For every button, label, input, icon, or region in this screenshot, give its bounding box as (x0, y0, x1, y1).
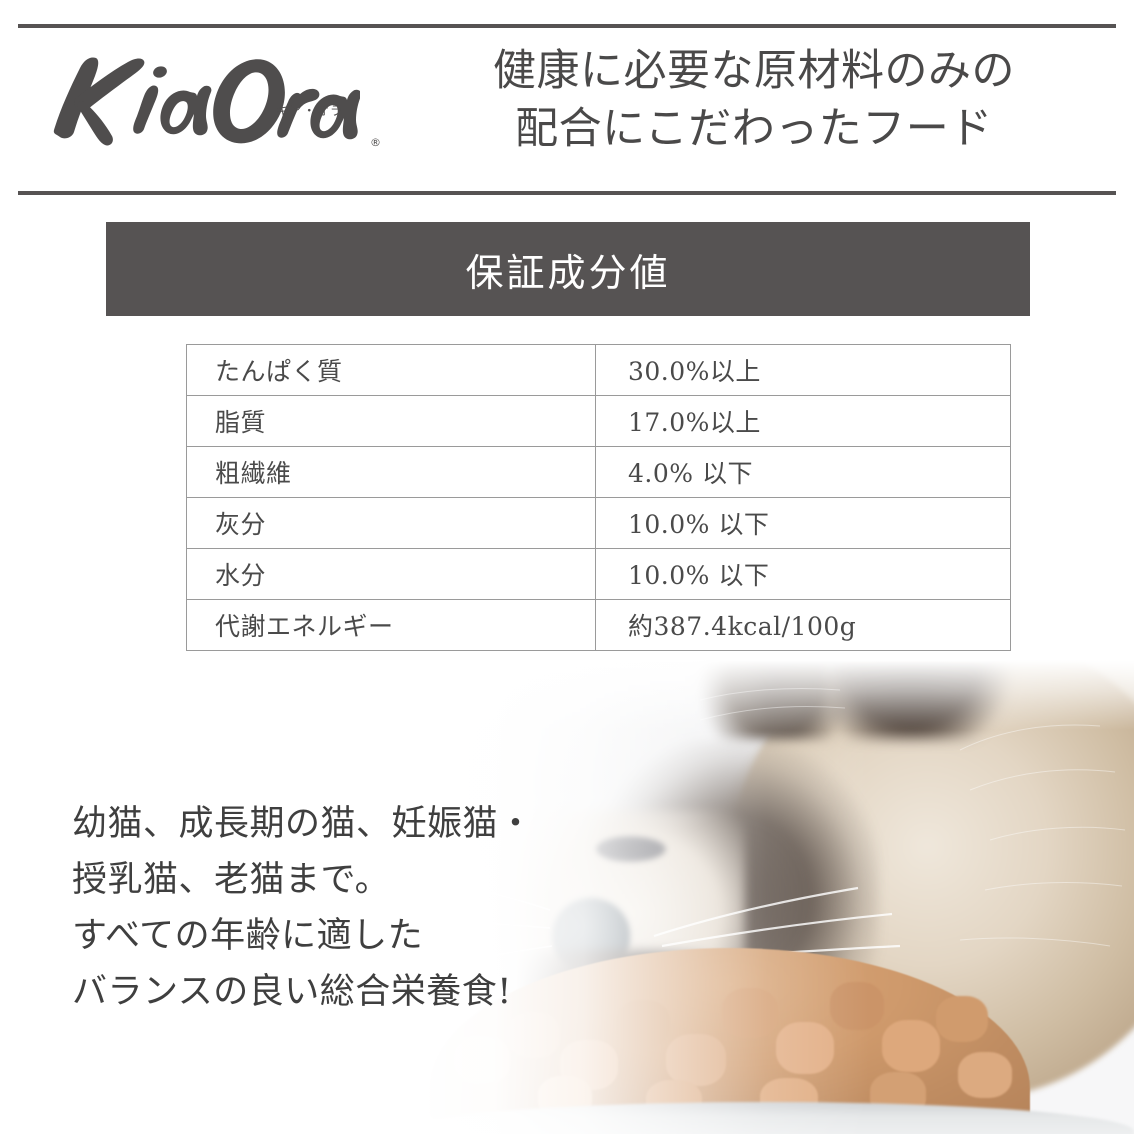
promo-page: キア・オラ ® 健康に必要な原材料のみの 配合にこだわったフード 保証成分値 た… (0, 0, 1134, 1134)
banner-title: 保証成分値 (465, 242, 670, 297)
nutrient-value: 17.0%以上 (596, 396, 1011, 447)
nutrient-label: 灰分 (187, 498, 596, 549)
table-row: 代謝エネルギー 約387.4kcal/100g (187, 600, 1011, 651)
table-row: 粗繊維 4.0% 以下 (187, 447, 1011, 498)
nutrient-label: 代謝エネルギー (187, 600, 596, 651)
headline-line-2: 配合にこだわったフード (404, 100, 1104, 158)
nutrient-value: 30.0%以上 (596, 345, 1011, 396)
nutrient-value: 10.0% 以下 (596, 549, 1011, 600)
nutrient-label: 粗繊維 (187, 447, 596, 498)
kibble-piece (616, 1000, 670, 1048)
kibble-piece (776, 1022, 834, 1074)
body-copy-line-4: バランスの良い総合栄養食! (72, 964, 534, 1020)
table-row: 水分 10.0% 以下 (187, 549, 1011, 600)
kibble-piece (454, 1036, 510, 1084)
body-copy-line-3: すべての年齢に適した (72, 908, 534, 964)
guaranteed-analysis-banner: 保証成分値 (106, 222, 1030, 316)
table-row: 脂質 17.0%以上 (187, 396, 1011, 447)
nutrient-value: 約387.4kcal/100g (596, 600, 1011, 651)
table-row: 灰分 10.0% 以下 (187, 498, 1011, 549)
body-copy: 幼猫、成長期の猫、妊娠猫・ 授乳猫、老猫まで。 すべての年齢に適した バランスの… (72, 796, 534, 1020)
body-copy-line-2: 授乳猫、老猫まで。 (72, 852, 534, 908)
kibble-piece (882, 1020, 940, 1072)
kibble-piece (666, 1034, 726, 1086)
nutrient-value: 10.0% 以下 (596, 498, 1011, 549)
nutrition-table-body: たんぱく質 30.0%以上 脂質 17.0%以上 粗繊維 4.0% 以下 灰分 … (187, 345, 1011, 651)
nutrient-label: たんぱく質 (187, 345, 596, 396)
kibble-piece (958, 1052, 1012, 1098)
registered-mark-icon: ® (370, 136, 381, 149)
kibble-piece (936, 996, 988, 1042)
nutrient-label: 水分 (187, 549, 596, 600)
table-row: たんぱく質 30.0%以上 (187, 345, 1011, 396)
body-copy-line-1: 幼猫、成長期の猫、妊娠猫・ (72, 796, 534, 852)
page-headline: 健康に必要な原材料のみの 配合にこだわったフード (404, 42, 1104, 158)
nutrient-label: 脂質 (187, 396, 596, 447)
nutrient-value: 4.0% 以下 (596, 447, 1011, 498)
header-bottom-rule (18, 191, 1116, 195)
nutrition-table: たんぱく質 30.0%以上 脂質 17.0%以上 粗繊維 4.0% 以下 灰分 … (186, 344, 1011, 651)
header-top-rule (18, 24, 1116, 28)
logo-katakana: キア・オラ (276, 100, 344, 119)
kibble-piece (830, 982, 884, 1030)
kibble-piece (722, 988, 778, 1038)
kia-ora-logo: キア・オラ ® (40, 44, 360, 152)
headline-line-1: 健康に必要な原材料のみの (404, 42, 1104, 100)
